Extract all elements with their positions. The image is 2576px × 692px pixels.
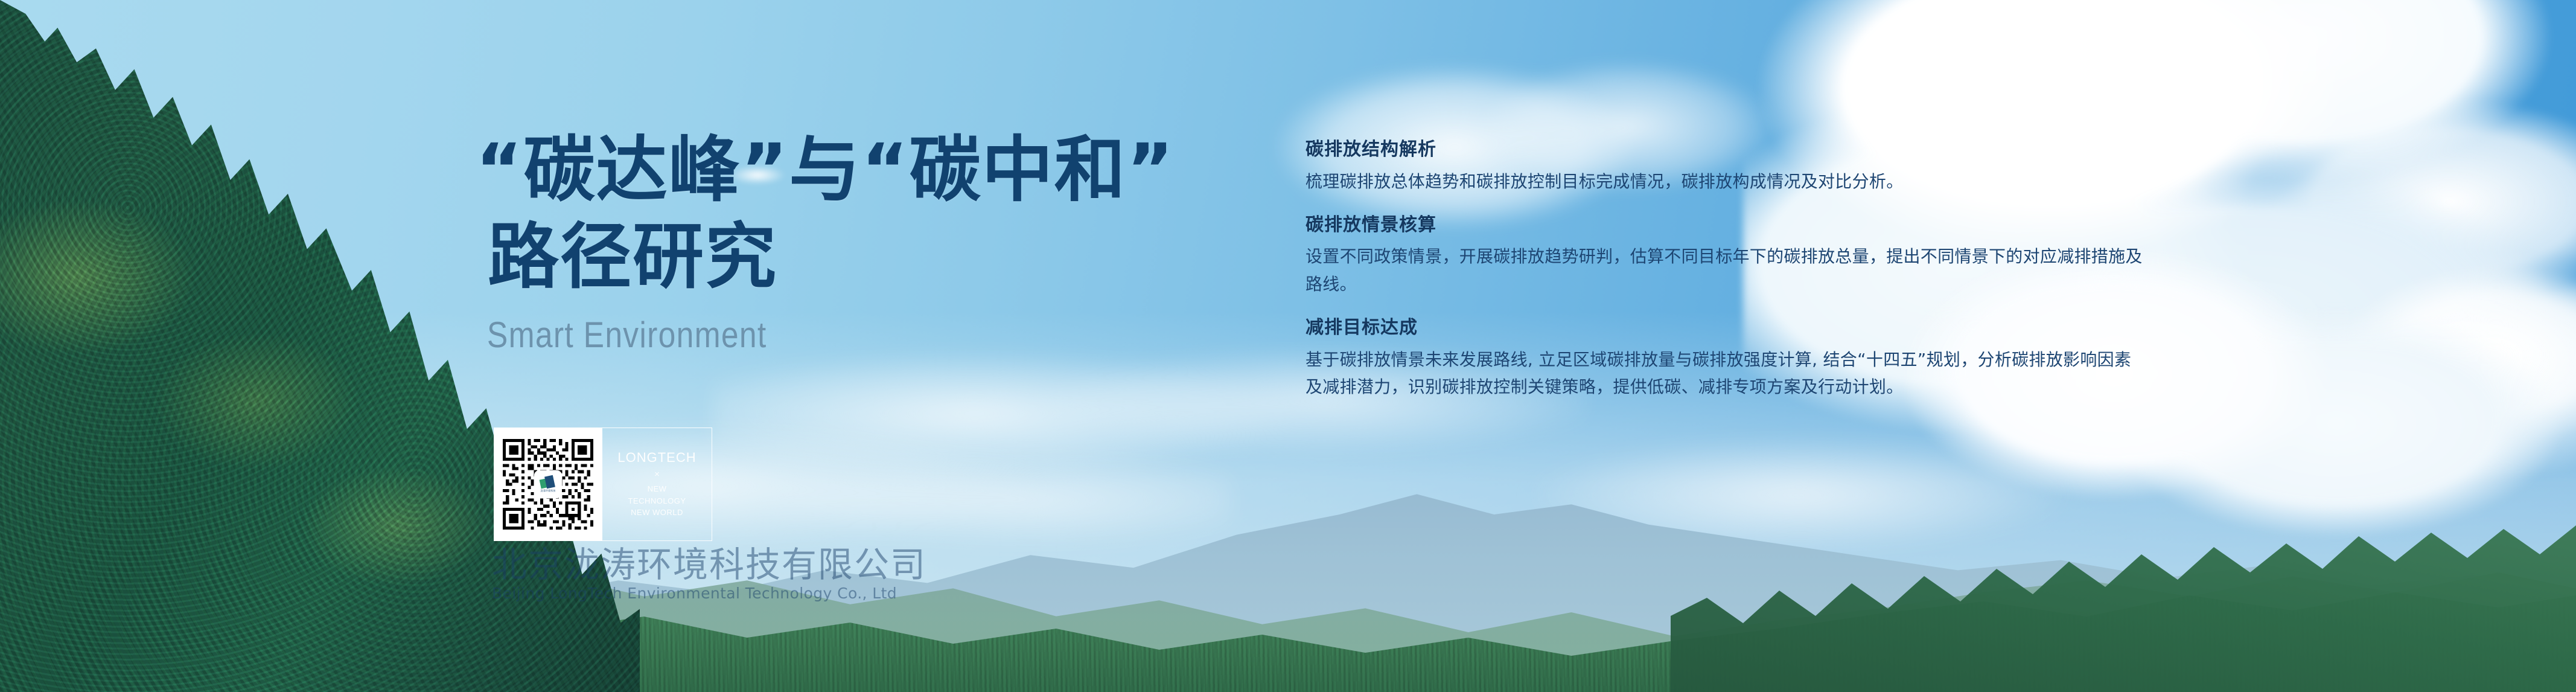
page-title-line-1: “碳达峰”与“碳中和” xyxy=(476,127,1175,214)
info-block-3: 减排目标达成 基于碳排放情景未来发展路线, 立足区域碳排放量与碳排放强度计算, … xyxy=(1306,316,2144,400)
tagline-line-2: TECHNOLOGY xyxy=(628,495,686,507)
carbon-banner: “碳达峰”与“碳中和” 路径研究 Smart Environment xyxy=(0,0,2576,692)
qr-code[interactable]: 泷涛环境科技 xyxy=(503,439,593,530)
promo-block: 泷涛环境科技 LONGTECH × NEW TECHNOLOGY NEW WOR… xyxy=(494,428,712,541)
info-body-2: 设置不同政策情景，开展碳排放趋势研判，估算不同目标年下的碳排放总量，提出不同情景… xyxy=(1306,243,2144,298)
qr-logo-caption: 泷涛环境科技 xyxy=(540,490,555,492)
tagline-line-1: NEW xyxy=(628,483,686,495)
tagline-line-3: NEW WORLD xyxy=(628,507,686,519)
qr-center-logo: 泷涛环境科技 xyxy=(535,471,561,498)
cross-icon: × xyxy=(654,469,660,479)
page-subtitle: Smart Environment xyxy=(476,314,1077,356)
info-heading-1: 碳排放结构解析 xyxy=(1306,138,2144,162)
info-heading-3: 减排目标达成 xyxy=(1306,316,2144,341)
info-block-1: 碳排放结构解析 梳理碳排放总体趋势和碳排放控制目标完成情况，碳排放构成情况及对比… xyxy=(1306,138,2144,195)
info-body-3: 基于碳排放情景未来发展路线, 立足区域碳排放量与碳排放强度计算, 结合“十四五”… xyxy=(1306,346,2144,401)
slogan-card: LONGTECH × NEW TECHNOLOGY NEW WORLD xyxy=(602,428,712,541)
page-title-line-2: 路径研究 xyxy=(476,214,1175,301)
info-heading-2: 碳排放情景核算 xyxy=(1306,213,2144,238)
tagline: NEW TECHNOLOGY NEW WORLD xyxy=(628,483,686,519)
info-body-1: 梳理碳排放总体趋势和碳排放控制目标完成情况，碳排放构成情况及对比分析。 xyxy=(1306,168,2144,195)
info-column: 碳排放结构解析 梳理碳排放总体趋势和碳排放控制目标完成情况，碳排放构成情况及对比… xyxy=(1306,138,2144,400)
title-block: “碳达峰”与“碳中和” 路径研究 Smart Environment xyxy=(476,127,1175,356)
longtech-logo-icon xyxy=(540,476,556,489)
info-block-2: 碳排放情景核算 设置不同政策情景，开展碳排放趋势研判，估算不同目标年下的碳排放总… xyxy=(1306,213,2144,298)
qr-card[interactable]: 泷涛环境科技 xyxy=(494,428,602,541)
brand-name: LONGTECH xyxy=(617,450,696,466)
